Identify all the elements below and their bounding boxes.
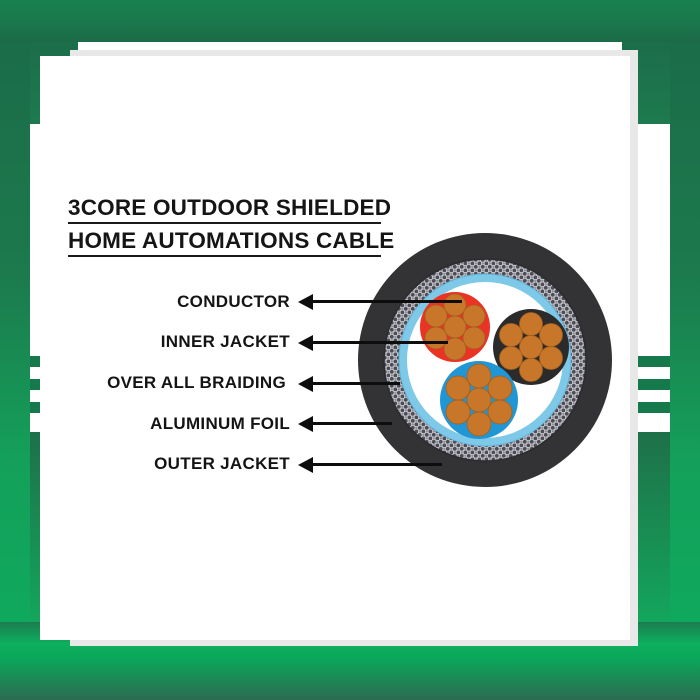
poster-canvas: 3CORE OUTDOOR SHIELDED HOME AUTOMATIONS … xyxy=(0,0,700,700)
frame-band-right xyxy=(670,42,700,622)
leader-line-conductor xyxy=(312,300,462,303)
leader-line-over-all-braiding xyxy=(312,382,400,385)
leader-line-inner-jacket xyxy=(312,341,448,344)
arrow-head-aluminum-foil xyxy=(298,416,313,432)
callout-label-over-all-braiding: OVER ALL BRAIDING xyxy=(0,374,286,392)
page-title-line-2: HOME AUTOMATIONS CABLE xyxy=(68,227,381,257)
frame-band-left xyxy=(0,42,30,622)
callout-label-aluminum-foil: ALUMINUM FOIL xyxy=(0,415,290,433)
callout-label-outer-jacket: OUTER JACKET xyxy=(0,455,290,473)
leader-line-aluminum-foil xyxy=(312,422,392,425)
cable-svg xyxy=(355,230,615,490)
leader-line-outer-jacket xyxy=(312,463,442,466)
callout-label-inner-jacket: INNER JACKET xyxy=(0,333,290,351)
arrow-head-inner-jacket xyxy=(298,335,313,351)
arrow-head-outer-jacket xyxy=(298,457,313,473)
callout-label-conductor: CONDUCTOR xyxy=(0,293,290,311)
arrow-head-conductor xyxy=(298,294,313,310)
page-title: 3CORE OUTDOOR SHIELDED HOME AUTOMATIONS … xyxy=(68,194,398,257)
cable-cross-section-diagram xyxy=(355,230,615,490)
page-title-line-1: 3CORE OUTDOOR SHIELDED xyxy=(68,194,381,224)
arrow-head-over-all-braiding xyxy=(298,376,313,392)
core-blue xyxy=(440,361,518,439)
frame-band-top xyxy=(0,0,700,42)
